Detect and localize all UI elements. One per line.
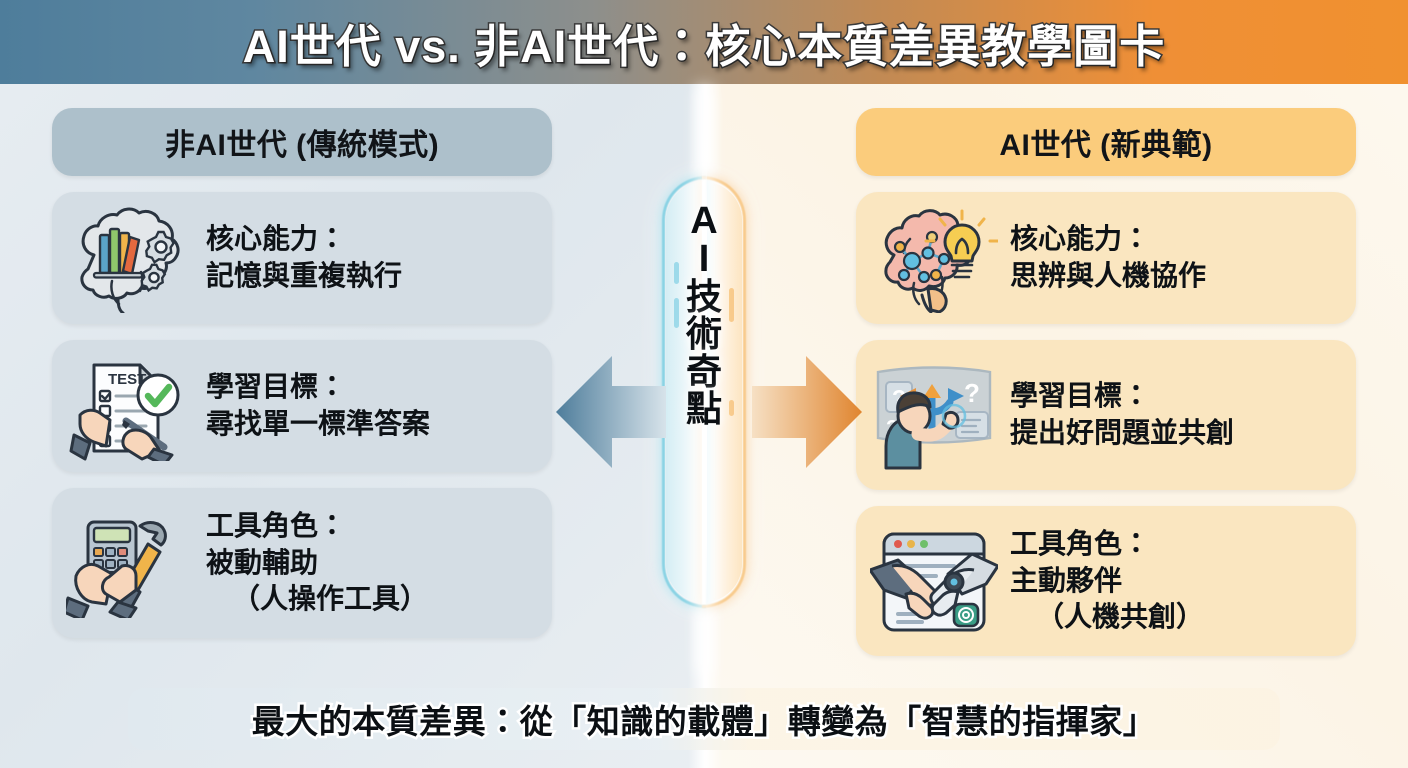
page-title: AI世代 vs. 非AI世代：核心本質差異教學圖卡 xyxy=(243,10,1166,75)
calculator-hammer-hand-icon xyxy=(66,508,194,618)
card-line-1: 學習目標： xyxy=(206,371,346,402)
card-line-2: 被動輔助 xyxy=(206,545,538,582)
card-line-1: 學習目標： xyxy=(1010,380,1150,411)
left-card-learning-goal-text: 學習目標： 尋找單一標準答案 xyxy=(194,369,538,443)
human-robot-handshake-icon xyxy=(870,526,998,636)
left-card-tool-role[interactable]: 工具角色： 被動輔助 （人操作工具） xyxy=(52,488,552,638)
svg-text:?: ? xyxy=(964,378,980,408)
person-questions-branching-arrows-icon: ? ? ? xyxy=(870,360,998,470)
singularity-label-ch1: 技 xyxy=(686,278,722,315)
card-line-1: 工具角色： xyxy=(1010,528,1150,559)
left-card-core-ability[interactable]: 核心能力： 記憶與重複執行 xyxy=(52,192,552,324)
left-card-tool-role-text: 工具角色： 被動輔助 （人操作工具） xyxy=(194,508,538,619)
footer-banner: 最大的本質差異：從「知識的載體」轉變為「智慧的指揮家」 xyxy=(128,688,1280,750)
left-card-learning-goal[interactable]: TEST xyxy=(52,340,552,472)
brain-network-lightbulb-icon xyxy=(870,203,998,313)
card-line-2: 主動夥伴 xyxy=(1010,563,1342,600)
card-line-3: （人機共創） xyxy=(1010,599,1342,636)
right-card-learning-goal-text: 學習目標： 提出好問題並共創 xyxy=(998,378,1342,452)
card-line-3: （人操作工具） xyxy=(206,581,538,618)
right-card-tool-role-text: 工具角色： 主動夥伴 （人機共創） xyxy=(998,526,1342,637)
card-line-2: 思辨與人機協作 xyxy=(1010,258,1342,295)
right-card-core-ability[interactable]: 核心能力： 思辨與人機協作 xyxy=(856,192,1356,324)
card-line-2: 記憶與重複執行 xyxy=(206,258,538,295)
brain-books-gears-icon xyxy=(66,203,194,313)
card-line-2: 尋找單一標準答案 xyxy=(206,406,538,443)
footer-summary-text: 最大的本質差異：從「知識的載體」轉變為「智慧的指揮家」 xyxy=(252,695,1157,743)
singularity-label-i: I xyxy=(699,240,710,278)
right-column-header: AI世代 (新典範) xyxy=(856,108,1356,176)
singularity-label-ch4: 點 xyxy=(686,390,722,427)
infographic-poster: AI世代 vs. 非AI世代：核心本質差異教學圖卡 非AI世代 (傳統模式) xyxy=(0,0,1408,768)
right-card-learning-goal[interactable]: ? ? ? xyxy=(856,340,1356,490)
title-bar: AI世代 vs. 非AI世代：核心本質差異教學圖卡 xyxy=(0,0,1408,84)
card-line-2: 提出好問題並共創 xyxy=(1010,415,1342,452)
arrow-right-icon xyxy=(752,352,862,472)
singularity-label-a: A xyxy=(690,202,717,240)
arrow-left-icon xyxy=(556,352,666,472)
singularity-label-ch3: 奇 xyxy=(686,353,722,390)
right-card-core-ability-text: 核心能力： 思辨與人機協作 xyxy=(998,221,1342,295)
singularity-label-ch2: 術 xyxy=(686,315,722,352)
card-line-1: 工具角色： xyxy=(206,510,346,541)
left-column: 非AI世代 (傳統模式) xyxy=(52,108,552,638)
card-line-1: 核心能力： xyxy=(206,223,346,254)
test-checklist-hand-icon: TEST xyxy=(66,351,194,461)
right-column: AI世代 (新典範) xyxy=(856,108,1356,656)
left-column-header: 非AI世代 (傳統模式) xyxy=(52,108,552,176)
right-card-tool-role[interactable]: 工具角色： 主動夥伴 （人機共創） xyxy=(856,506,1356,656)
left-card-core-ability-text: 核心能力： 記憶與重複執行 xyxy=(194,221,538,295)
card-line-1: 核心能力： xyxy=(1010,223,1150,254)
